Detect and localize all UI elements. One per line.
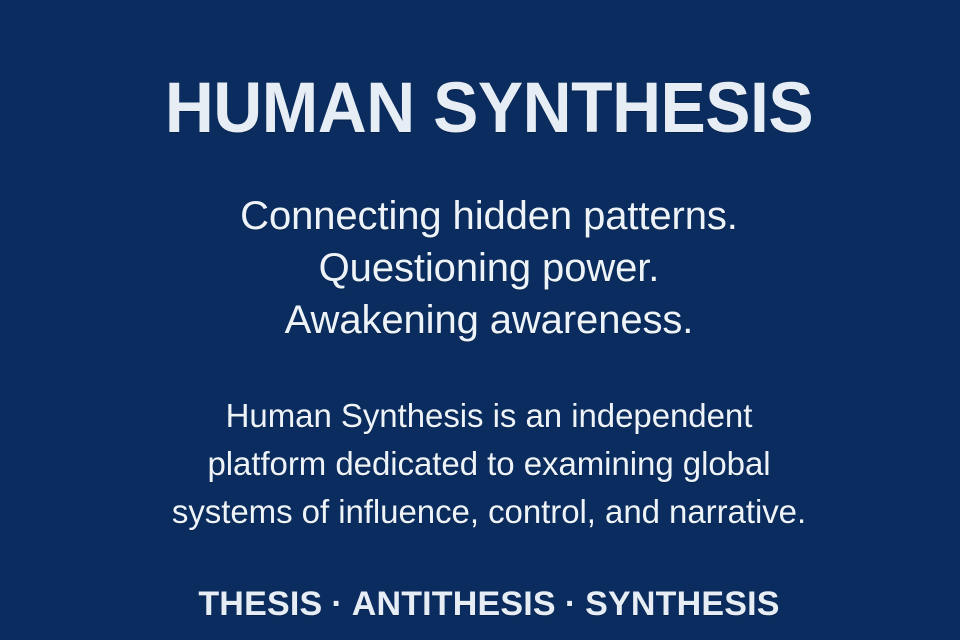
tagline-line-3: Awakening awareness. <box>18 294 960 346</box>
motto-separator-dot-1: · <box>322 584 351 624</box>
motto-word-thesis: THESIS <box>198 584 322 624</box>
tagline-line-2: Questioning power. <box>18 242 960 294</box>
motto-word-antithesis: ANTITHESIS <box>352 584 556 624</box>
description-line-1: Human Synthesis is an independent <box>18 392 960 440</box>
description-line-3: systems of influence, control, and narra… <box>18 488 960 536</box>
brand-poster: HUMAN SYNTHESIS Connecting hidden patter… <box>0 0 960 640</box>
tagline-line-1: Connecting hidden patterns. <box>18 190 960 242</box>
motto-word-synthesis: SYNTHESIS <box>585 584 780 624</box>
title-block: HUMAN SYNTHESIS <box>18 70 960 148</box>
description-block: Human Synthesis is an independent platfo… <box>18 392 960 536</box>
page-title: HUMAN SYNTHESIS <box>39 70 939 148</box>
description-line-2: platform dedicated to examining global <box>18 440 960 488</box>
motto-block: THESIS · ANTITHESIS · SYNTHESIS <box>18 584 960 624</box>
tagline-block: Connecting hidden patterns. Questioning … <box>18 190 960 346</box>
motto-separator-dot-2: · <box>556 584 585 624</box>
